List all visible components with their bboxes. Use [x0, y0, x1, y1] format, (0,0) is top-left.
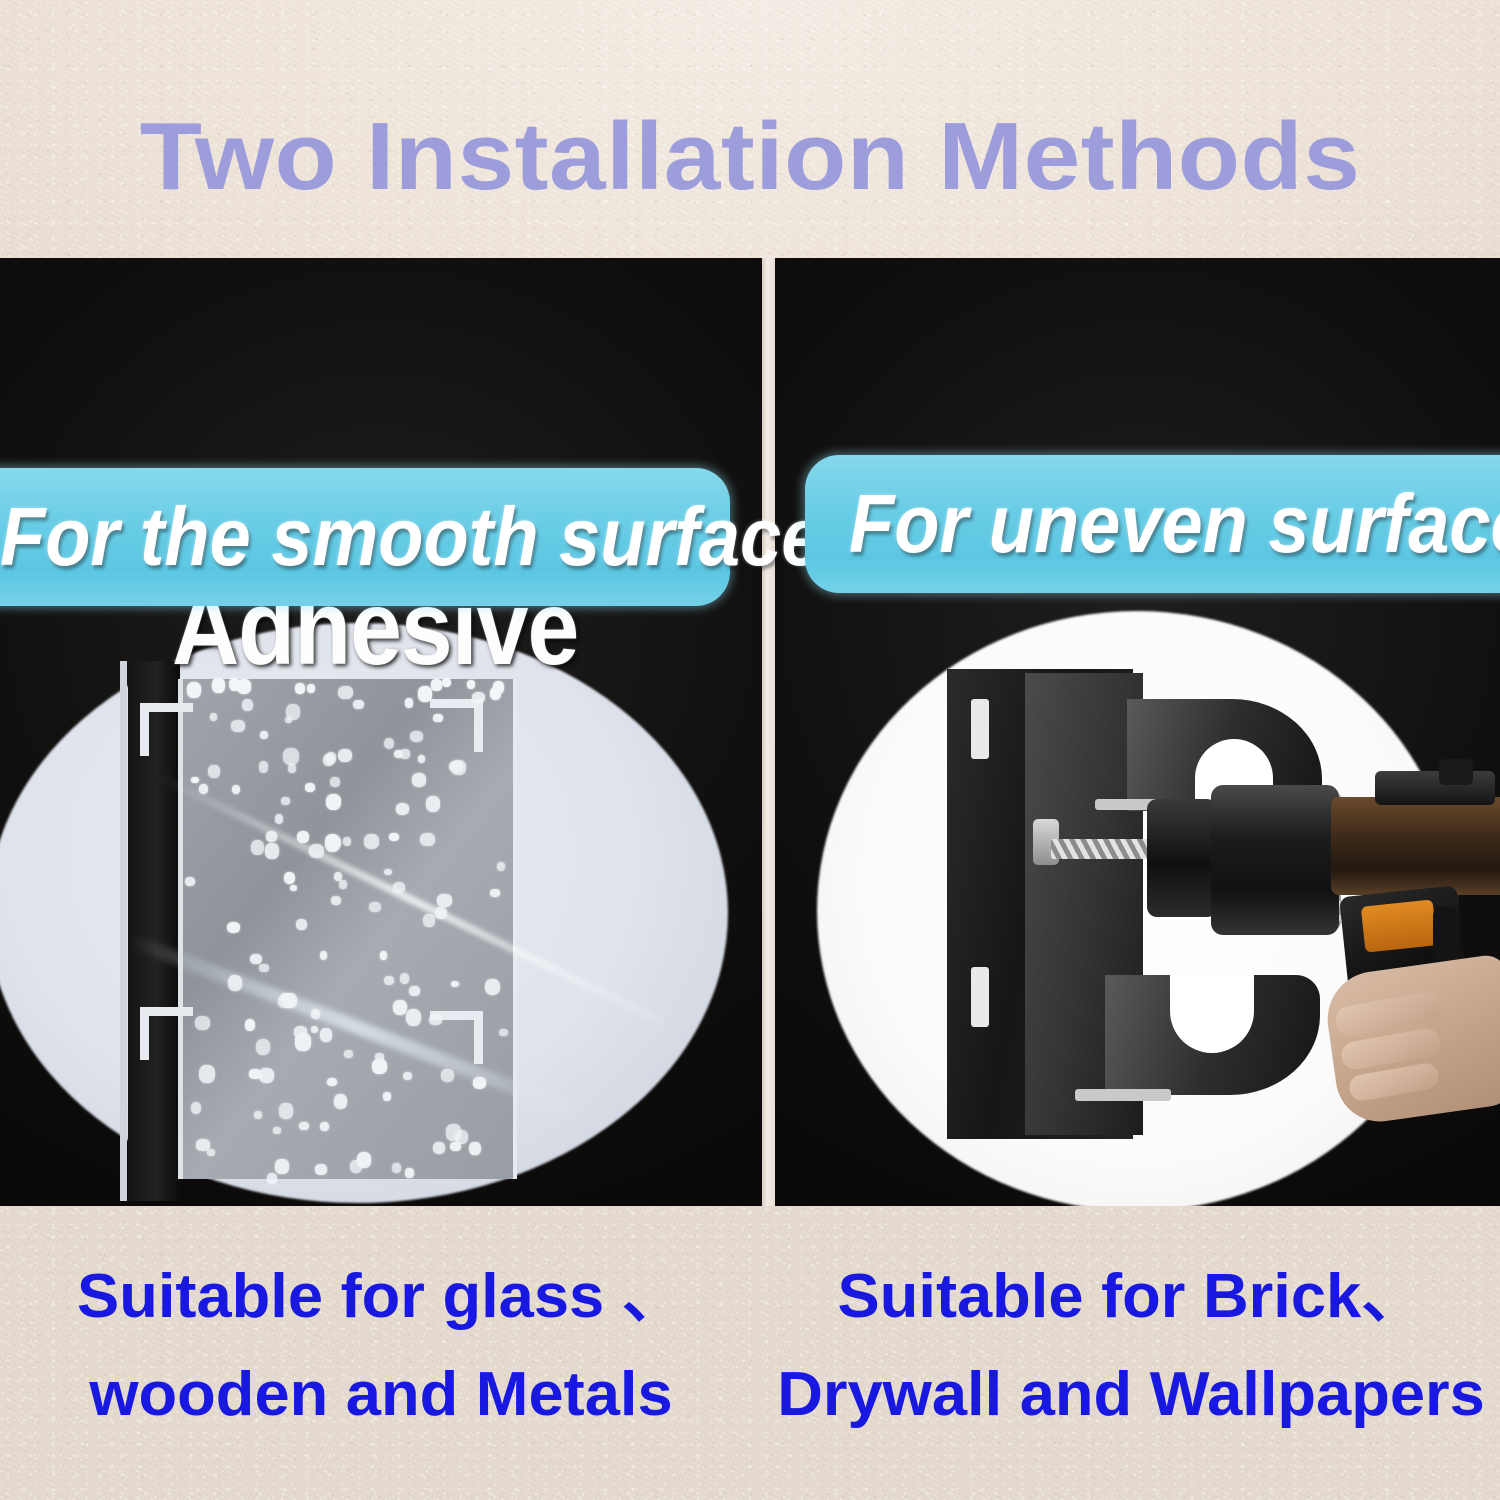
water-droplet	[393, 882, 405, 893]
water-droplet	[275, 814, 284, 824]
water-droplet	[396, 803, 409, 815]
water-droplet	[472, 692, 485, 703]
water-droplet	[338, 749, 352, 763]
water-droplet	[490, 889, 500, 897]
water-droplet	[191, 1102, 202, 1114]
water-droplet	[311, 1009, 321, 1019]
water-droplet	[208, 765, 220, 779]
adhesive-bracket-bottom-left	[140, 1007, 193, 1060]
water-droplet	[275, 1159, 289, 1174]
water-droplet	[339, 880, 347, 889]
banner-adhesive: For the smooth surface	[0, 468, 730, 606]
water-droplet	[433, 714, 443, 722]
water-droplet	[420, 833, 435, 846]
water-droplet	[259, 964, 268, 972]
water-droplet	[196, 1139, 210, 1150]
water-droplet	[305, 783, 315, 792]
banner-screws-label: For uneven surface	[849, 480, 1500, 567]
water-droplet	[400, 973, 410, 984]
water-droplet	[295, 1033, 311, 1051]
caption-adhesive: Suitable for glass 、 wooden and Metals	[0, 1248, 770, 1444]
water-droplet	[278, 995, 292, 1009]
page-title: Two Installation Methods	[0, 105, 1500, 209]
water-droplet	[330, 777, 341, 786]
water-droplet	[227, 922, 240, 934]
water-droplet	[210, 713, 217, 721]
caption-adhesive-line2: wooden and Metals	[0, 1346, 770, 1444]
water-droplet	[389, 833, 399, 841]
water-droplet	[231, 720, 244, 733]
water-droplet	[392, 1163, 401, 1173]
water-droplet	[256, 1039, 271, 1055]
mount-slot-top	[971, 699, 989, 759]
door-frame-edge	[120, 661, 127, 1201]
drill-orange-accent	[1361, 899, 1437, 952]
drill-top-housing	[1375, 771, 1495, 805]
water-droplet	[207, 1149, 215, 1156]
banner-screws: For uneven surface	[805, 455, 1500, 593]
water-droplet	[228, 975, 243, 991]
mount-slot-bottom	[971, 967, 989, 1027]
water-droplet	[249, 1069, 261, 1079]
water-droplet	[409, 986, 420, 996]
adhesive-bracket-top-right	[430, 699, 483, 752]
water-droplet	[485, 979, 500, 996]
water-droplet	[279, 1103, 293, 1118]
water-droplet	[364, 834, 379, 849]
water-droplet	[334, 1094, 348, 1109]
caption-screws-line2: Drywall and Wallpapers	[755, 1346, 1500, 1444]
drill-trigger	[1433, 907, 1459, 959]
water-droplet	[309, 844, 325, 858]
water-droplet	[328, 836, 341, 849]
water-droplet	[499, 1029, 507, 1037]
water-droplet	[327, 1078, 337, 1086]
water-droplet	[259, 1068, 274, 1083]
water-droplet	[384, 976, 394, 985]
caption-screws: Suitable for Brick、 Drywall and Wallpape…	[755, 1248, 1500, 1444]
water-droplet	[405, 698, 414, 707]
panel-divider	[762, 258, 775, 1206]
water-droplet	[338, 686, 353, 700]
water-droplet	[281, 797, 290, 805]
water-droplet	[380, 951, 387, 960]
water-droplet	[497, 862, 506, 871]
water-droplet	[260, 731, 268, 739]
water-droplet	[418, 686, 432, 702]
water-droplet	[344, 1050, 353, 1058]
banner-adhesive-label: For the smooth surface	[0, 493, 822, 580]
water-droplet	[423, 914, 435, 927]
water-droplet	[320, 1122, 329, 1131]
water-droplet	[288, 764, 296, 772]
water-droplet	[450, 1142, 461, 1151]
caption-adhesive-line1: Suitable for glass 、	[0, 1248, 770, 1346]
water-droplet	[451, 760, 465, 775]
drill-knob	[1439, 759, 1473, 785]
water-droplet	[433, 1142, 445, 1154]
water-droplet	[372, 1059, 387, 1074]
water-droplet	[267, 1173, 277, 1184]
water-droplet	[250, 954, 262, 965]
water-droplet	[320, 951, 328, 960]
water-droplet	[273, 1127, 281, 1134]
adhesive-photo	[0, 603, 762, 1206]
water-droplet	[441, 1069, 455, 1082]
water-droplet	[412, 773, 426, 787]
hook-highlight-bottom	[1075, 1089, 1171, 1101]
caption-screws-line1: Suitable for Brick、	[755, 1248, 1500, 1346]
water-droplet	[299, 1122, 308, 1130]
water-droplet	[469, 1142, 481, 1156]
water-droplet	[195, 1016, 210, 1030]
water-droplet	[437, 894, 451, 907]
water-droplet	[283, 748, 299, 765]
drill-body	[1211, 785, 1339, 935]
method-panel-adhesive: Adhesive	[0, 258, 762, 1206]
drill-bit-icon	[1051, 839, 1155, 859]
water-droplet	[191, 777, 199, 783]
water-droplet	[326, 752, 337, 763]
water-droplet	[265, 843, 279, 859]
water-droplet	[446, 1124, 461, 1141]
water-droplet	[259, 761, 269, 773]
screws-photo	[775, 603, 1500, 1206]
water-droplet	[320, 1028, 332, 1042]
water-droplet	[296, 919, 307, 930]
adhesive-bracket-top-left	[140, 703, 193, 756]
water-droplet	[393, 1000, 407, 1015]
water-droplet	[297, 831, 309, 843]
water-droplet	[331, 896, 341, 905]
water-droplet	[353, 700, 364, 709]
infographic-root: Two Installation Methods Adhesive	[0, 0, 1500, 1500]
water-droplet	[350, 1160, 362, 1173]
water-droplet	[394, 750, 403, 758]
water-droplet	[410, 731, 423, 742]
water-droplet	[435, 907, 446, 919]
water-droplet	[266, 831, 278, 841]
water-droplet	[383, 1092, 391, 1101]
drill-barrel	[1331, 797, 1500, 895]
water-droplet	[199, 1065, 215, 1083]
water-droplet	[405, 1168, 414, 1178]
water-droplet	[315, 1164, 327, 1175]
water-droplet	[251, 840, 265, 855]
water-droplet	[406, 1009, 422, 1027]
water-droplet	[426, 796, 441, 812]
method-panel-screws: Screws	[775, 258, 1500, 1206]
water-droplet	[418, 755, 425, 763]
water-droplet	[254, 1111, 262, 1119]
water-droplet	[429, 1015, 442, 1025]
drill-chuck	[1147, 799, 1217, 917]
water-droplet	[403, 1072, 412, 1080]
